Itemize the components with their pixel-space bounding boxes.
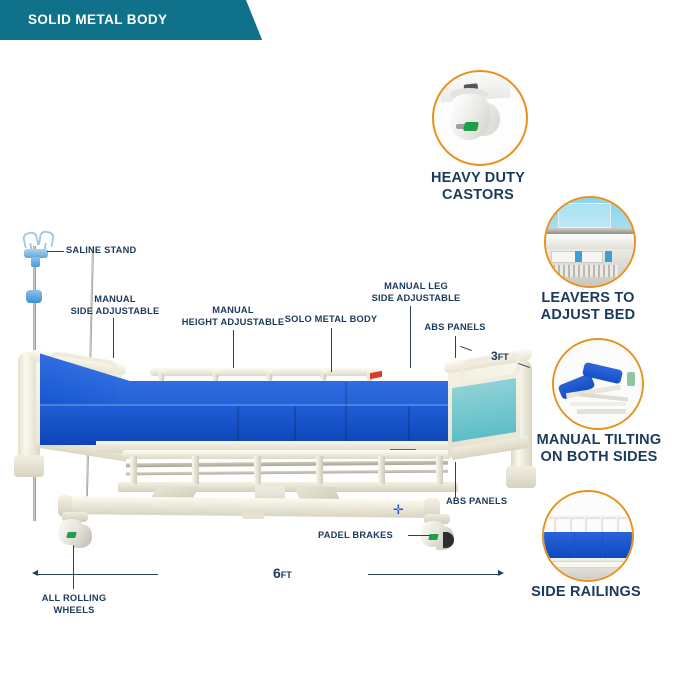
feature-circle-leavers-to-adjust-bed: [544, 196, 636, 288]
iv-collar-top-stem: [31, 257, 40, 267]
feature-caption-leavers-to-adjust-bed: LEAVERS TO ADJUST BED: [518, 290, 658, 324]
caster-wheel: [74, 524, 92, 548]
caster-brake-pedal-icon: [66, 532, 76, 538]
brand-plus-icon: ✛: [393, 503, 404, 516]
mattress-section-seam: [408, 406, 410, 445]
lower-rail-post: [130, 456, 137, 484]
mattress-section-seam: [237, 406, 239, 445]
railing-mattress: [544, 532, 632, 558]
lower-rail-post: [436, 456, 443, 484]
lower-rail-post: [254, 456, 261, 484]
callout-manual-leg-side-adjustable: MANUAL LEG SIDE ADJUSTABLE: [352, 281, 480, 304]
mattress-edge-highlight: [40, 404, 480, 406]
callout-all-rolling-wheels: ALL ROLLING WHEELS: [24, 593, 124, 616]
mattress-section-seam: [345, 382, 347, 445]
castor-brake-pedal-icon: [463, 122, 479, 131]
dimension-6ft: 6FT: [273, 565, 292, 581]
feature-caption-side-railings: SIDE RAILINGS: [516, 584, 656, 601]
side-rail-release-marker: [370, 371, 382, 380]
caster-tire: [443, 532, 454, 548]
leader-manual-side-adjustable: [113, 318, 114, 358]
leader-solo-metal-body: [331, 328, 332, 372]
railing-mattress-seam: [602, 532, 603, 558]
lower-rail-cross-tube: [126, 461, 448, 468]
tilt-side-fitting: [627, 372, 635, 386]
dimension-arrow-right: [498, 570, 504, 576]
callout-solo-metal-body: SOLO METAL BODY: [276, 314, 386, 326]
mattress-section-seam: [294, 406, 296, 445]
feature-circle-heavy-duty-castors: [432, 70, 528, 166]
callout-manual-side-adjustable: MANUAL SIDE ADJUSTABLE: [60, 294, 170, 317]
lower-rail-top-bar: [122, 450, 452, 459]
railing-under-bar: [548, 561, 627, 568]
lower-rail-post: [192, 456, 199, 484]
feature-circle-side-railings: [542, 490, 634, 582]
dimension-3ft: 3FT: [491, 349, 509, 363]
leader-manual-height-adjustable: [233, 330, 234, 368]
leader-abs-panels-top: [455, 336, 456, 358]
feature-caption-manual-tilting: MANUAL TILTING ON BOTH SIDES: [524, 432, 674, 466]
lever-panel-glass: [558, 203, 611, 228]
footboard-foot: [506, 466, 536, 488]
mattress-front-face: [40, 405, 480, 445]
side-rail-bar: [150, 368, 380, 376]
dimension-line-right: [368, 574, 498, 575]
feature-caption-heavy-duty-castors: HEAVY DUTY CASTORS: [408, 170, 548, 204]
lever-gear-teeth: [553, 265, 618, 277]
callout-abs-panels-bottom: ABS PANELS: [446, 496, 516, 508]
tilt-base-bar: [577, 409, 626, 414]
railing-mattress-seam: [574, 532, 575, 558]
tilt-support-bar: [570, 402, 626, 406]
lower-rail-post: [316, 456, 323, 484]
iv-hook-right-icon: [38, 230, 55, 247]
feature-circle-manual-tilting: [552, 338, 644, 430]
leader-saline-stand: [47, 251, 64, 252]
footboard-teal-insert: [452, 378, 516, 442]
header-banner-title: SOLID METAL BODY: [28, 12, 167, 27]
lower-rail-cross-tube: [126, 470, 448, 476]
lower-rail-post: [378, 456, 385, 484]
callout-saline-stand: SALINE STAND: [66, 245, 156, 257]
castor-body: [450, 94, 490, 140]
leader-abs-panels-bottom: [455, 462, 456, 498]
callout-padel-brakes: PADEL BRAKES: [318, 530, 408, 542]
lever-rail-body: [546, 234, 634, 249]
lever-slot: [551, 251, 576, 264]
dimension-line-left: [38, 574, 158, 575]
leader-padel-brakes: [408, 535, 430, 536]
callout-abs-panels-top: ABS PANELS: [411, 322, 499, 334]
iv-collar-lower: [26, 290, 42, 303]
lever-handle-icon: [575, 251, 582, 262]
headboard-foot: [14, 455, 44, 477]
leader-all-rolling-wheels: [73, 545, 74, 589]
lever-handle-icon: [605, 251, 612, 262]
leader-manual-leg-side-adjustable: [410, 306, 411, 368]
base-frame-tab: [242, 512, 264, 519]
